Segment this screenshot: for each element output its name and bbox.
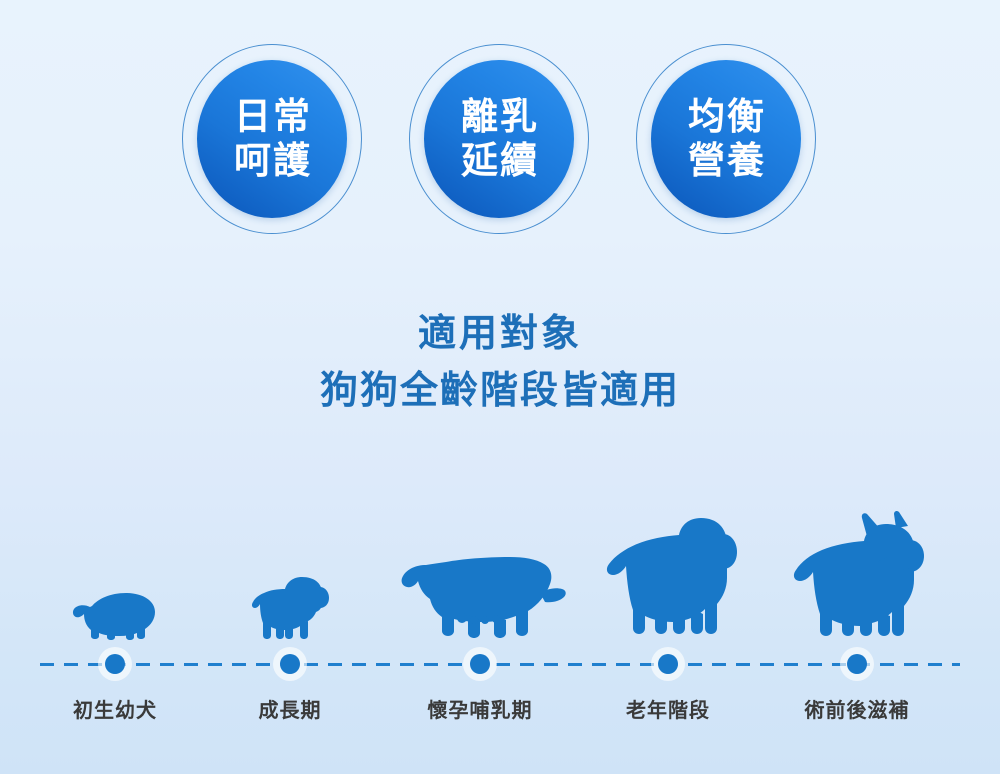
page-subtitle: 狗狗全齡階段皆適用 — [0, 365, 1000, 416]
badge-disc: 離乳 延續 — [424, 60, 574, 218]
page-title: 適用對象 — [0, 308, 1000, 359]
feature-badge-row: 日常 呵護 離乳 延續 均衡 營養 — [0, 44, 1000, 236]
life-stage-timeline: 初生幼犬 成長期 — [0, 470, 1000, 770]
feature-badge-weaning: 離乳 延續 — [409, 44, 591, 236]
post-surgery-dog-icon — [757, 495, 957, 645]
badge-disc: 均衡 營養 — [651, 60, 801, 218]
timeline-stage-growth[interactable]: 成長期 — [190, 470, 390, 770]
timeline-stage-post-surgery[interactable]: 術前後滋補 — [757, 470, 957, 770]
senior-dog-icon — [568, 495, 768, 645]
timeline-stage-label: 術前後滋補 — [757, 694, 957, 723]
badge-label-line2: 營養 — [686, 139, 766, 183]
badge-disc: 日常 呵護 — [197, 60, 347, 218]
timeline-dot[interactable] — [98, 647, 132, 681]
section-heading: 適用對象 狗狗全齡階段皆適用 — [0, 308, 1000, 417]
badge-label-line1: 均衡 — [686, 95, 766, 139]
feature-badge-daily-care: 日常 呵護 — [182, 44, 364, 236]
timeline-dot[interactable] — [463, 647, 497, 681]
feature-badge-balanced-nutrition: 均衡 營養 — [636, 44, 818, 236]
timeline-stage-label: 老年階段 — [568, 694, 768, 723]
timeline-stage-label: 成長期 — [190, 694, 390, 723]
timeline-dot[interactable] — [840, 647, 874, 681]
timeline-dot[interactable] — [273, 647, 307, 681]
pregnant-nursing-dog-icon — [380, 495, 580, 645]
promo-page: 日常 呵護 離乳 延續 均衡 營養 適用對象 狗狗全齡階段皆適用 — [0, 0, 1000, 774]
newborn-puppy-icon — [15, 495, 215, 645]
timeline-stage-label: 懷孕哺乳期 — [380, 694, 580, 723]
timeline-stage-newborn[interactable]: 初生幼犬 — [15, 470, 215, 770]
badge-label-line2: 延續 — [459, 139, 539, 183]
timeline-stage-label: 初生幼犬 — [15, 694, 215, 723]
growing-puppy-icon — [190, 495, 390, 645]
badge-label-line1: 日常 — [232, 95, 312, 139]
badge-label-line2: 呵護 — [232, 139, 312, 183]
timeline-dot[interactable] — [651, 647, 685, 681]
timeline-stage-senior[interactable]: 老年階段 — [568, 470, 768, 770]
badge-label-line1: 離乳 — [459, 95, 539, 139]
timeline-stage-pregnancy[interactable]: 懷孕哺乳期 — [380, 470, 580, 770]
